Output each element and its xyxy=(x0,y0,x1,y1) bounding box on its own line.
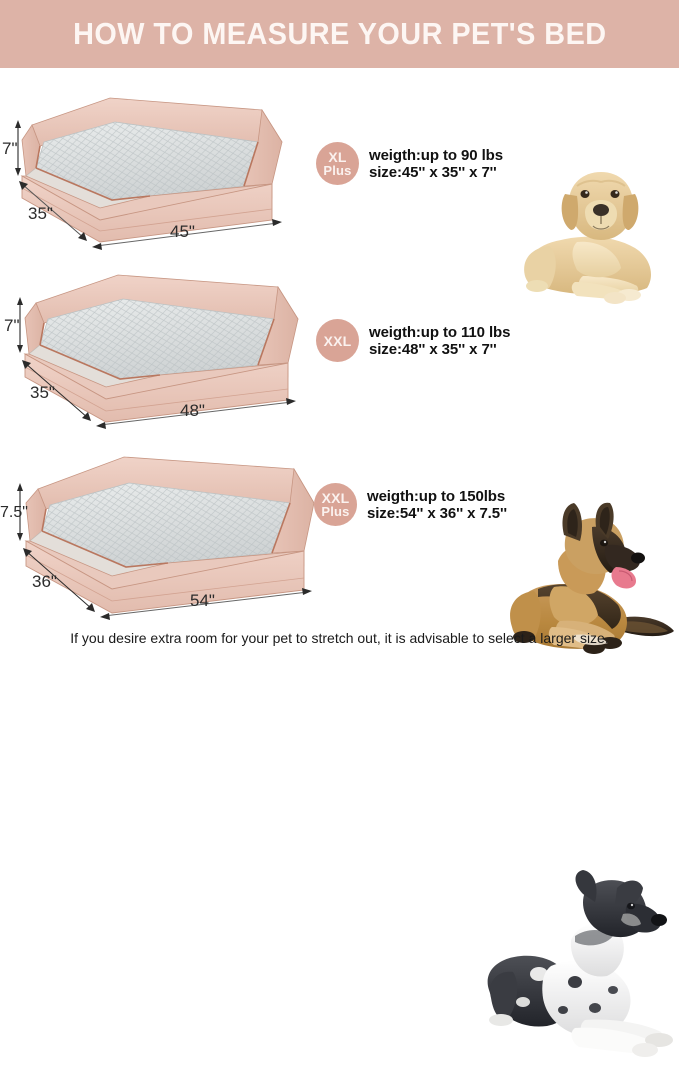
great-dane-illustration xyxy=(455,870,679,1065)
spec-text-xxl: weigth:up to 110 lbs size:48'' x 35'' x … xyxy=(369,324,510,358)
bed-diagram-svg: 7" 35" 45" xyxy=(0,80,315,250)
spec-text-xl-plus: weigth:up to 90 lbs size:45'' x 35'' x 7… xyxy=(369,147,503,181)
spec-block-xxl-plus: XXL Plus weigth:up to 150lbs size:54'' x… xyxy=(314,483,507,526)
badge-line-primary: XXL xyxy=(322,491,350,505)
bed-diagram-svg: 7" 35" 48" xyxy=(0,255,315,430)
size-row-xxl-plus: 7.5" 36" 54" XXL Plus xyxy=(0,435,679,620)
badge-line-secondary: Plus xyxy=(321,505,349,519)
page-title: HOW TO MEASURE YOUR PET'S BED xyxy=(73,16,606,52)
size-label: size:48'' x 35'' x 7'' xyxy=(369,341,510,358)
bed-illustration-xxl-plus: 7.5" 36" 54" xyxy=(0,435,315,620)
dimension-width-label: 54" xyxy=(190,591,215,610)
dimension-width-label: 45" xyxy=(170,222,195,241)
footer-note: If you desire extra room for your pet to… xyxy=(0,630,679,646)
header-banner: HOW TO MEASURE YOUR PET'S BED xyxy=(0,0,679,68)
spec-block-xl-plus: XL Plus weigth:up to 90 lbs size:45'' x … xyxy=(316,142,503,185)
size-badge-xxl-plus: XXL Plus xyxy=(314,483,357,526)
dimension-height-label: 7" xyxy=(4,316,20,335)
dimension-width-label: 48" xyxy=(180,401,205,420)
dimension-height-label: 7" xyxy=(2,139,18,158)
bed-illustration-xl-plus: 7" 35" 45" xyxy=(0,80,315,250)
badge-line-primary: XL xyxy=(328,150,346,164)
weight-label: weigth:up to 110 lbs xyxy=(369,324,510,341)
size-row-xl-plus: 7" 35" 45" XL Plus xyxy=(0,80,679,250)
dimension-height-label: 7.5" xyxy=(0,504,28,521)
size-badge-xxl: XXL xyxy=(316,319,359,362)
size-badge-xl-plus: XL Plus xyxy=(316,142,359,185)
badge-line-primary: XXL xyxy=(324,334,352,348)
spec-text-xxl-plus: weigth:up to 150lbs size:54'' x 36'' x 7… xyxy=(367,488,507,522)
bed-diagram-svg: 7.5" 36" 54" xyxy=(0,435,330,620)
spec-block-xxl: XXL weigth:up to 110 lbs size:48'' x 35'… xyxy=(316,319,510,362)
weight-label: weigth:up to 150lbs xyxy=(367,488,507,505)
bed-illustration-xxl: 7" 35" 48" xyxy=(0,255,315,430)
size-row-xxl: 7" 35" 48" XXL weigth:up xyxy=(0,255,679,430)
dimension-depth-label: 35" xyxy=(30,383,55,402)
size-label: size:54'' x 36'' x 7.5'' xyxy=(367,505,507,522)
size-label: size:45'' x 35'' x 7'' xyxy=(369,164,503,181)
badge-line-secondary: Plus xyxy=(323,164,351,178)
weight-label: weigth:up to 90 lbs xyxy=(369,147,503,164)
infographic-page: HOW TO MEASURE YOUR PET'S BED xyxy=(0,0,679,661)
dimension-depth-label: 36" xyxy=(32,572,57,591)
dog-photo-great-dane xyxy=(455,870,679,1065)
dimension-depth-label: 35" xyxy=(28,204,53,223)
